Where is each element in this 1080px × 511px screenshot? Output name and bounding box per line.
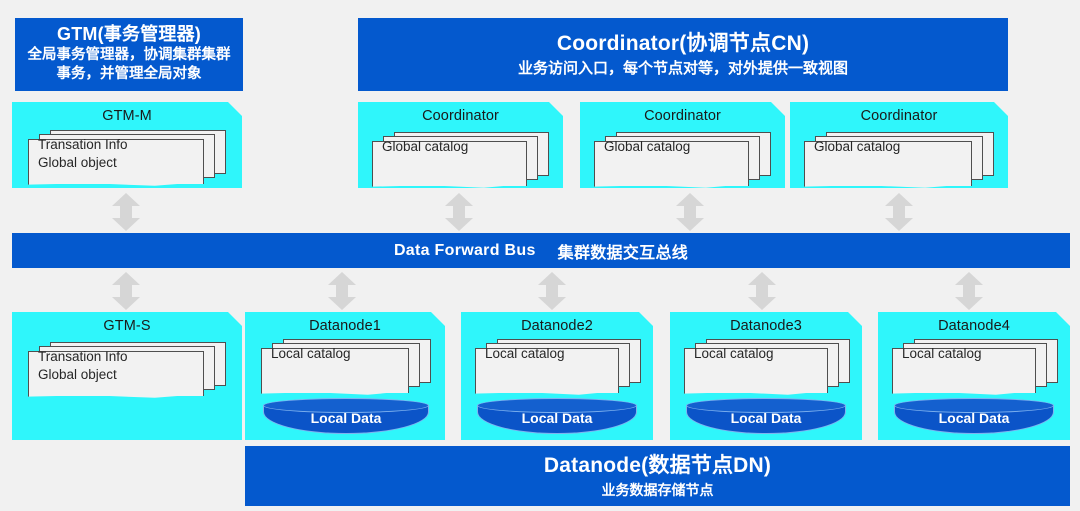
double-arrow-icon	[676, 193, 704, 231]
diagram-canvas: GTM(事务管理器) 全局事务管理器，协调集群集群事务，并管理全局对象 Coor…	[0, 0, 1080, 511]
card-label: Transation Info Global object	[38, 348, 128, 384]
cylinder-label: Local Data	[894, 410, 1054, 426]
coordinator-banner-subtitle: 业务访问入口，每个节点对等，对外提供一致视图	[518, 59, 848, 79]
card-stack: Local catalog	[684, 339, 850, 395]
node-coordinator-3[interactable]: Coordinator Global catalog	[790, 102, 1008, 188]
double-arrow-icon	[328, 272, 356, 310]
node-gtm-m[interactable]: GTM-M Transation Info Global object	[12, 102, 242, 188]
node-coordinator-2-title: Coordinator	[580, 108, 785, 124]
node-datanode-4[interactable]: Datanode4 Local catalog Local Data	[878, 312, 1070, 440]
card-label: Global catalog	[382, 138, 468, 156]
card-stack: Transation Info Global object	[28, 130, 226, 186]
cylinder-label: Local Data	[477, 410, 637, 426]
node-coordinator-3-title: Coordinator	[790, 108, 1008, 124]
card-sheet-wave	[594, 178, 750, 192]
card-label: Global catalog	[604, 138, 690, 156]
local-data-cylinder: Local Data	[686, 398, 846, 434]
double-arrow-icon	[445, 193, 473, 231]
double-arrow-icon	[885, 193, 913, 231]
datanode-banner: Datanode(数据节点DN) 业务数据存储节点	[245, 446, 1070, 506]
card-stack: Local catalog	[892, 339, 1058, 395]
bus-label-cn: 集群数据交互总线	[558, 239, 688, 263]
coordinator-banner-title: Coordinator(协调节点CN)	[557, 31, 809, 57]
coordinator-banner: Coordinator(协调节点CN) 业务访问入口，每个节点对等，对外提供一致…	[358, 18, 1008, 91]
node-datanode-2-title: Datanode2	[461, 318, 653, 334]
node-coordinator-1-title: Coordinator	[358, 108, 563, 124]
local-data-cylinder: Local Data	[477, 398, 637, 434]
datanode-banner-title: Datanode(数据节点DN)	[544, 453, 771, 479]
node-coordinator-1[interactable]: Coordinator Global catalog	[358, 102, 563, 188]
card-label: Local catalog	[902, 345, 982, 363]
card-sheet-wave	[261, 385, 410, 399]
double-arrow-icon	[748, 272, 776, 310]
card-sheet-wave	[372, 178, 528, 192]
node-gtm-m-title: GTM-M	[12, 108, 242, 124]
bus-label-en: Data Forward Bus	[394, 242, 536, 260]
local-data-cylinder: Local Data	[894, 398, 1054, 434]
local-data-cylinder: Local Data	[263, 398, 429, 434]
node-datanode-3[interactable]: Datanode3 Local catalog Local Data	[670, 312, 862, 440]
card-label: Transation Info Global object	[38, 136, 128, 172]
node-datanode-1[interactable]: Datanode1 Local catalog Local Data	[245, 312, 445, 440]
double-arrow-icon	[112, 272, 140, 310]
card-stack: Global catalog	[594, 132, 771, 188]
card-stack: Local catalog	[475, 339, 641, 395]
cylinder-label: Local Data	[686, 410, 846, 426]
double-arrow-icon	[112, 193, 140, 231]
node-coordinator-2[interactable]: Coordinator Global catalog	[580, 102, 785, 188]
node-datanode-3-title: Datanode3	[670, 318, 862, 334]
card-stack: Transation Info Global object	[28, 342, 226, 398]
gtm-banner-title: GTM(事务管理器)	[57, 23, 201, 46]
card-label: Local catalog	[271, 345, 351, 363]
card-label: Local catalog	[694, 345, 774, 363]
double-arrow-icon	[538, 272, 566, 310]
double-arrow-icon	[955, 272, 983, 310]
card-stack: Global catalog	[804, 132, 994, 188]
data-forward-bus: Data Forward Bus 集群数据交互总线	[12, 233, 1070, 268]
card-stack: Global catalog	[372, 132, 549, 188]
node-datanode-4-title: Datanode4	[878, 318, 1070, 334]
card-sheet-wave	[804, 178, 973, 192]
card-label: Global catalog	[814, 138, 900, 156]
datanode-banner-subtitle: 业务数据存储节点	[602, 481, 714, 499]
node-gtm-s-title: GTM-S	[12, 318, 242, 334]
gtm-banner: GTM(事务管理器) 全局事务管理器，协调集群集群事务，并管理全局对象	[15, 18, 243, 91]
cylinder-label: Local Data	[263, 410, 429, 426]
card-sheet-wave	[892, 385, 1037, 399]
node-gtm-s[interactable]: GTM-S Transation Info Global object	[12, 312, 242, 440]
card-sheet-wave	[28, 388, 205, 402]
gtm-banner-subtitle: 全局事务管理器，协调集群集群事务，并管理全局对象	[21, 46, 237, 84]
card-sheet-wave	[475, 385, 620, 399]
card-sheet-wave	[28, 176, 205, 190]
card-sheet-wave	[684, 385, 829, 399]
node-datanode-1-title: Datanode1	[245, 318, 445, 334]
card-label: Local catalog	[485, 345, 565, 363]
card-stack: Local catalog	[261, 339, 431, 395]
node-datanode-2[interactable]: Datanode2 Local catalog Local Data	[461, 312, 653, 440]
